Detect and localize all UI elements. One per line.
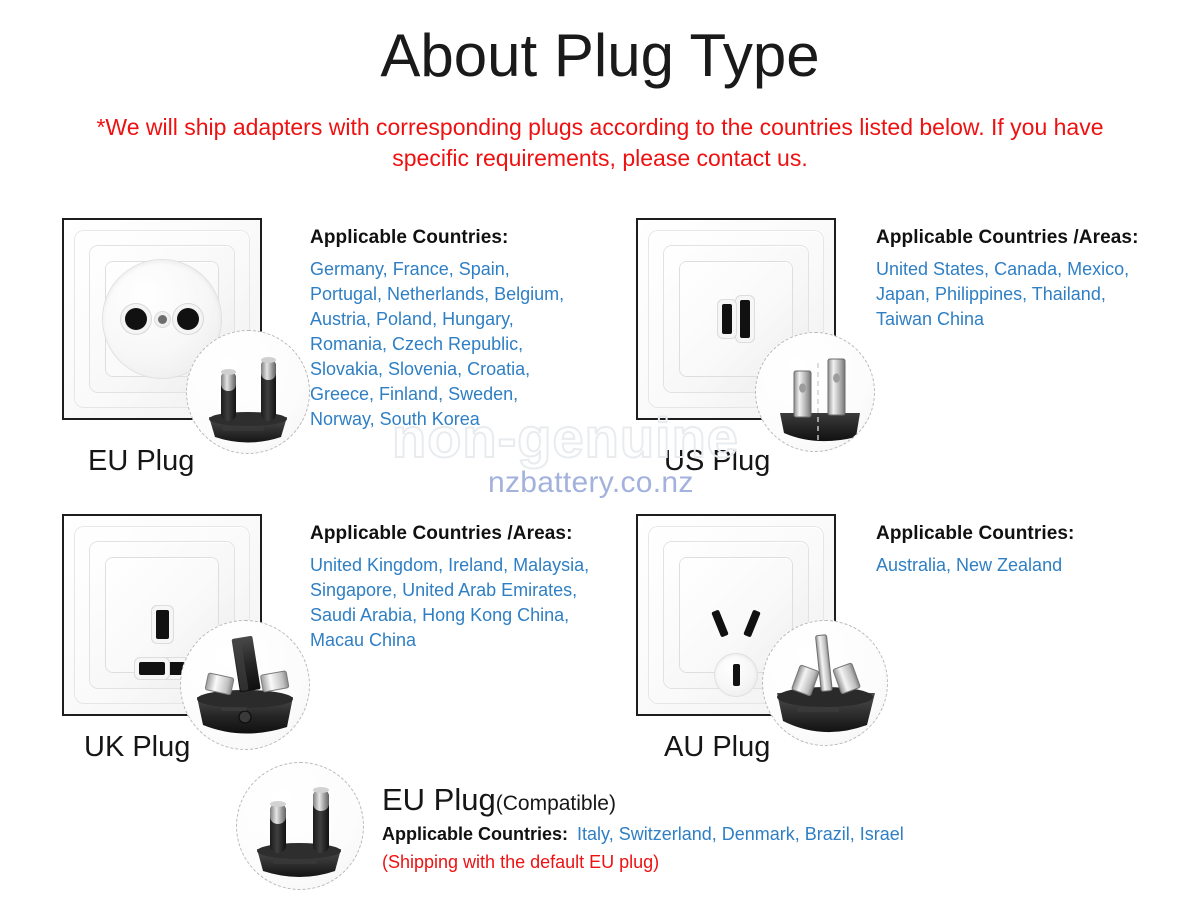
us-country-column: Applicable Countries /Areas: United Stat… bbox=[876, 226, 1166, 332]
uk-socket-earth-slot bbox=[156, 610, 169, 639]
compatible-plug-title: EU Plug(Compatible) bbox=[382, 782, 616, 822]
compatible-applicable-row: Applicable Countries:Italy, Switzerland,… bbox=[382, 822, 904, 846]
uk-country-column: Applicable Countries /Areas: United King… bbox=[310, 522, 610, 653]
eu-compatible-plug-photo-icon bbox=[236, 762, 364, 890]
au-socket-earth-slot bbox=[733, 664, 740, 686]
au-applicable-heading: Applicable Countries: bbox=[876, 522, 1166, 546]
watermark-site-url: nzbattery.co.nz bbox=[488, 466, 694, 500]
shipping-note: *We will ship adapters with correspondin… bbox=[70, 112, 1130, 174]
uk-applicable-heading: Applicable Countries /Areas: bbox=[310, 522, 610, 546]
us-applicable-heading: Applicable Countries /Areas: bbox=[876, 226, 1166, 250]
eu-applicable-heading: Applicable Countries: bbox=[310, 226, 580, 250]
uk-plug-photo-icon bbox=[180, 620, 310, 750]
plug-type-infographic: About Plug Type *We will ship adapters w… bbox=[0, 0, 1200, 900]
eu-plug-photo-icon bbox=[186, 330, 310, 454]
eu-plug-label: EU Plug bbox=[88, 444, 194, 478]
au-socket-slot-left bbox=[743, 609, 761, 637]
compatible-applicable-countries: Italy, Switzerland, Denmark, Brazil, Isr… bbox=[577, 824, 904, 844]
eu-country-column: Applicable Countries: Germany, France, S… bbox=[310, 226, 580, 432]
compatible-plug-title-main: EU Plug bbox=[382, 782, 496, 817]
au-socket-earth-recess bbox=[715, 654, 757, 696]
eu-socket-hole-left bbox=[125, 308, 147, 330]
uk-plug-label: UK Plug bbox=[84, 730, 190, 764]
us-plug-photo-icon bbox=[755, 332, 875, 452]
eu-socket-hole-right bbox=[177, 308, 199, 330]
uk-socket-slot-right bbox=[139, 662, 165, 675]
us-socket-slot-left bbox=[740, 300, 750, 338]
compatible-plug-title-suffix: (Compatible) bbox=[496, 792, 616, 815]
us-plug-label: US Plug bbox=[664, 444, 770, 478]
us-applicable-countries: United States, Canada, Mexico, Japan, Ph… bbox=[876, 257, 1166, 332]
us-socket-slot-right bbox=[722, 304, 732, 334]
compatible-applicable-heading: Applicable Countries: bbox=[382, 824, 568, 844]
eu-applicable-countries: Germany, France, Spain, Portugal, Nether… bbox=[310, 257, 580, 432]
au-applicable-countries: Australia, New Zealand bbox=[876, 553, 1166, 578]
page-title: About Plug Type bbox=[0, 22, 1200, 90]
eu-socket-earth-pin bbox=[158, 315, 167, 324]
au-socket-slot-right bbox=[711, 609, 729, 637]
au-country-column: Applicable Countries: Australia, New Zea… bbox=[876, 522, 1166, 578]
au-plug-photo-icon bbox=[762, 620, 888, 746]
compatible-shipping-note: (Shipping with the default EU plug) bbox=[382, 850, 659, 874]
uk-applicable-countries: United Kingdom, Ireland, Malaysia, Singa… bbox=[310, 553, 610, 653]
au-plug-label: AU Plug bbox=[664, 730, 770, 764]
